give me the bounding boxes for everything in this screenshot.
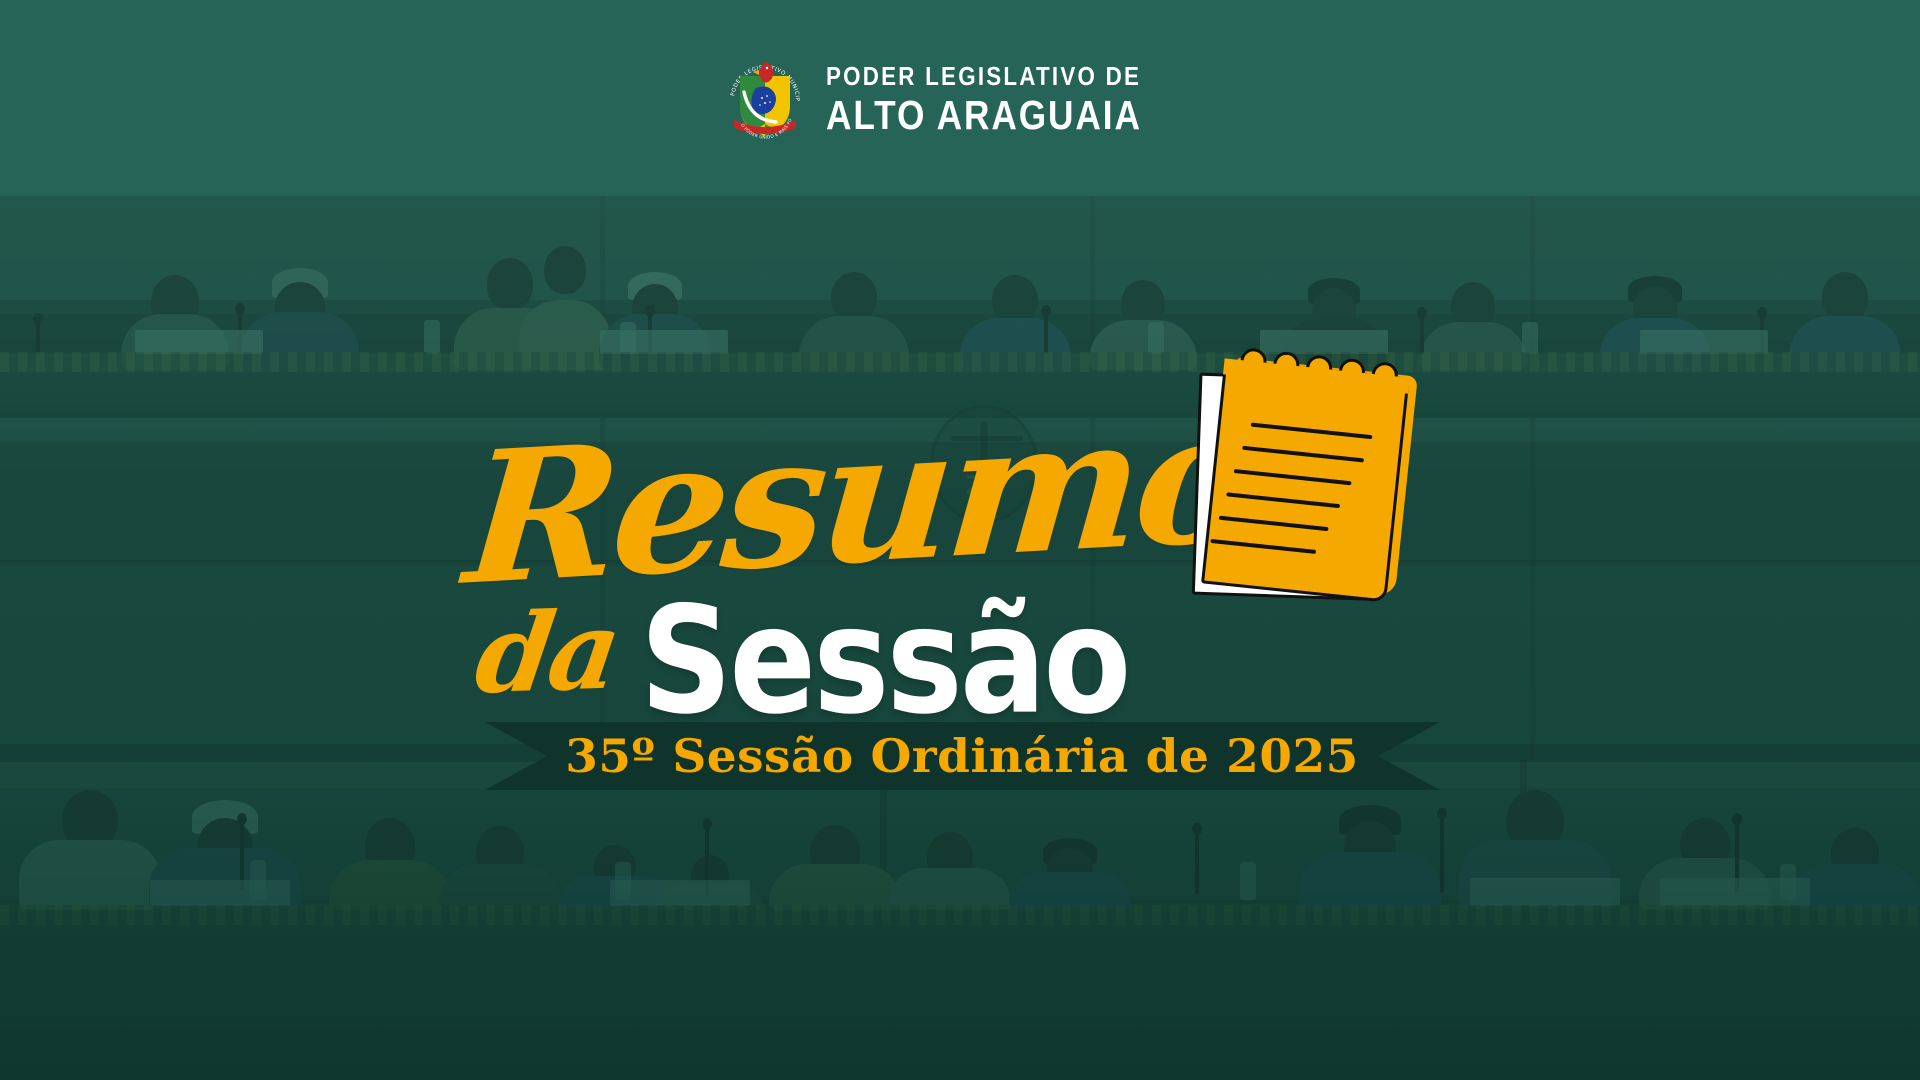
- notepad-line: [1234, 469, 1352, 485]
- title-main-sessao: Sessão: [640, 575, 1128, 747]
- session-banner: 35º Sessão Ordinária de 2025: [485, 722, 1440, 790]
- notepad-line: [1219, 516, 1329, 531]
- notepad-line: [1210, 539, 1316, 554]
- title-connector-da: da: [469, 588, 625, 719]
- title-block: Resumo da Sessão: [0, 0, 1920, 1080]
- notepad-line: [1226, 492, 1340, 508]
- notepad-front-page: [1201, 358, 1410, 602]
- poster-canvas: PODER LEGISLATIVO MUNICIPAL: [0, 0, 1920, 1080]
- notepad-line: [1242, 446, 1364, 463]
- session-banner-text: 35º Sessão Ordinária de 2025: [566, 729, 1360, 783]
- notepad-line: [1251, 423, 1373, 440]
- notepad-icon: [1200, 358, 1419, 609]
